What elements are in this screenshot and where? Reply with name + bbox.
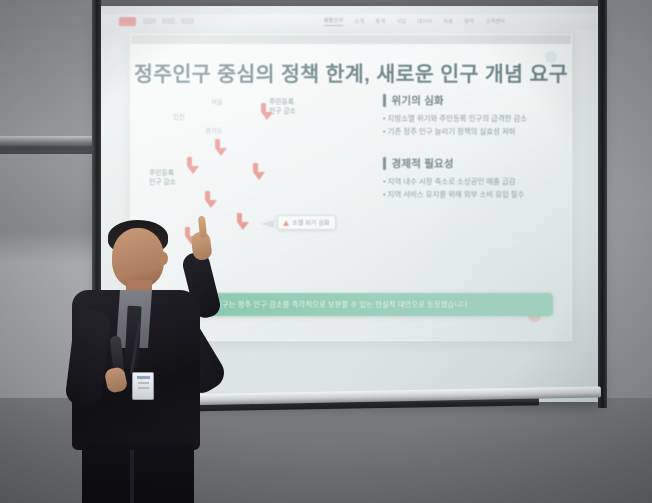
risk-callout: 소멸 위기 심화 xyxy=(277,215,336,230)
presenter-index-finger xyxy=(198,216,207,239)
menu-item-5[interactable]: 자료 xyxy=(443,18,453,25)
section-economic-bullet-1: • 지역 서비스 유지를 위해 외부 소비 유입 필수 xyxy=(383,189,559,202)
slide-title: 정주인구 중심의 정책 한계, 새로운 인구 개념 요구 xyxy=(131,57,571,87)
diagram-label-seoul: 서울 xyxy=(211,99,223,108)
menu-item-0[interactable]: 생활인구 xyxy=(324,17,344,26)
menu-item-4[interactable]: 데이터 xyxy=(417,18,432,25)
section-accent-bar xyxy=(383,157,386,170)
diagram-label-incheon: 인천 xyxy=(173,114,185,123)
site-logo[interactable] xyxy=(119,17,136,26)
menu-item-6[interactable]: 참여 xyxy=(464,18,474,25)
browser-appbar: 생활인구 소개 통계 사업 데이터 자료 참여 고객센터 xyxy=(99,14,601,29)
whiteboard-tray-shadow xyxy=(0,146,99,154)
name-badge xyxy=(132,372,154,400)
section-accent-bar xyxy=(383,94,386,107)
diagram-label-gyeonggi: 경기도 xyxy=(205,128,223,137)
whiteboard-tray-rail xyxy=(0,136,99,146)
menu-item-3[interactable]: 사업 xyxy=(396,18,406,25)
slide-sections: 위기의 심화 • 지방소멸 위기와 주민등록 인구의 급격한 감소 • 기존 정… xyxy=(383,93,559,220)
diagram-label-registered-pop-left: 주민등록인구 감소 xyxy=(149,169,176,187)
menu-item-2[interactable]: 통계 xyxy=(375,18,385,25)
appbar-left-placeholder xyxy=(143,18,194,24)
section-crisis-head: 위기의 심화 xyxy=(383,93,559,108)
menu-item-7[interactable]: 고객센터 xyxy=(485,18,505,25)
screen-frame-right xyxy=(598,0,607,408)
slide-card-topbar xyxy=(131,35,571,44)
risk-callout-label: 소멸 위기 심화 xyxy=(292,218,330,227)
section-crisis-title: 위기의 심화 xyxy=(392,93,444,108)
section-economic-bullet-0: • 지역 내수 시장 축소로 소상공인 매출 급감 xyxy=(383,176,559,189)
diagram-label-registered-pop-right: 주민등록인구 감소 xyxy=(269,98,296,116)
section-economic-title: 경제적 필요성 xyxy=(392,156,454,171)
section-crisis-bullet-0: • 지방소멸 위기와 주민등록 인구의 급격한 감소 xyxy=(383,113,559,126)
appbar-menu[interactable]: 생활인구 소개 통계 사업 데이터 자료 참여 고객센터 xyxy=(324,17,505,26)
section-crisis: 위기의 심화 • 지방소멸 위기와 주민등록 인구의 급격한 감소 • 기존 정… xyxy=(383,93,559,138)
presenter-trousers xyxy=(82,444,194,503)
section-economic: 경제적 필요성 • 지역 내수 시장 축소로 소상공인 매출 급감 • 지역 서… xyxy=(383,156,559,201)
section-economic-head: 경제적 필요성 xyxy=(383,156,559,171)
section-crisis-bullet-1: • 기존 정주 인구 늘리기 정책의 실효성 저하 xyxy=(383,126,559,139)
warning-triangle-icon xyxy=(283,220,289,226)
menu-item-1[interactable]: 소개 xyxy=(354,18,364,25)
screenshot-stage: 생활인구 소개 통계 사업 데이터 자료 참여 고객센터 정주인구 중심의 정책… xyxy=(0,0,652,503)
presenter-ear xyxy=(159,252,168,265)
presenter-leg-seam xyxy=(130,450,134,503)
presenter xyxy=(60,218,275,503)
presenter-head xyxy=(112,228,164,288)
